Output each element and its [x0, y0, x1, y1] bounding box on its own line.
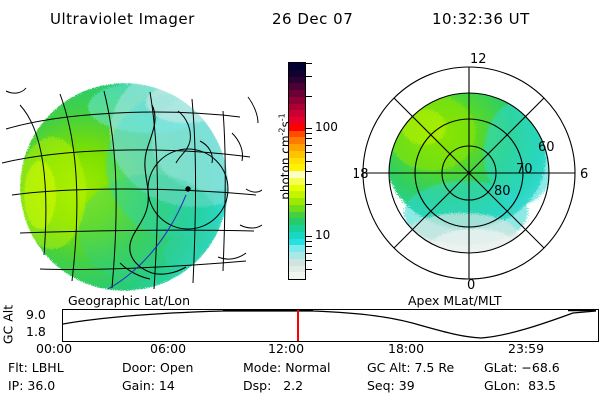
colorbar-segment: [289, 158, 305, 165]
colorbar-segment: [289, 83, 305, 90]
apex-polar-panel[interactable]: 12 6 0 18 60 70 80: [354, 45, 600, 295]
strip-x-tick-label: 00:00: [36, 341, 72, 356]
colorbar-gradient: [288, 62, 306, 280]
status-door: Door: Open: [122, 360, 193, 375]
mlt-label-18: 18: [354, 167, 369, 182]
colorbar-tick: [306, 152, 312, 153]
mlt-label-12: 12: [470, 52, 487, 67]
colorbar-segment: [289, 232, 305, 239]
colorbar-segment: [289, 137, 305, 144]
colorbar-segment: [289, 124, 305, 131]
colorbar-segment: [289, 239, 305, 246]
colorbar-tick: [306, 260, 312, 261]
colorbar-segment: [289, 63, 305, 70]
colorbar-segment: [289, 252, 305, 259]
status-dsp: Dsp: 2.2: [243, 378, 303, 393]
mlat-label-80: 80: [494, 184, 511, 199]
colorbar-segment: [289, 185, 305, 192]
header-bar: Ultraviolet Imager 26 Dec 07 10:32:36 UT: [0, 6, 600, 34]
mlt-label-6: 6: [580, 167, 588, 182]
status-seq: Seq: 39: [367, 378, 415, 393]
status-flt: Flt: LBHL: [8, 360, 64, 375]
geographic-plot-svg: [0, 45, 262, 295]
status-gain: Gain: 14: [122, 378, 175, 393]
colorbar-segment: [289, 259, 305, 266]
strip-plot-box[interactable]: [62, 309, 599, 342]
time-cursor[interactable]: [297, 310, 299, 341]
colorbar-tick: [306, 76, 312, 77]
colorbar-tick: [306, 171, 312, 172]
colorbar-segment: [289, 90, 305, 97]
colorbar-segment: [289, 266, 305, 273]
colorbar-segment: [289, 110, 305, 117]
mlt-label-0: 0: [467, 278, 475, 293]
status-row-2: IP: 36.0 Gain: 14 Dsp: 2.2 Seq: 39 GLon:…: [0, 378, 600, 396]
status-glon: GLon: 83.5: [484, 378, 556, 393]
status-glat: GLat: −68.6: [484, 360, 560, 375]
altitude-track-svg: [63, 310, 596, 339]
colorbar-segment: [289, 198, 305, 205]
strip-x-tick-label: 12:00: [268, 341, 304, 356]
colorbar-segment: [289, 151, 305, 158]
status-gc-alt: GC Alt: 7.5 Re: [367, 360, 454, 375]
colorbar-tick: [306, 204, 312, 205]
colorbar-segment: [289, 97, 305, 104]
colorbar-segment: [289, 178, 305, 185]
colorbar-panel: photon cm-2s-1 10010: [262, 45, 354, 295]
mlat-label-60: 60: [538, 140, 555, 155]
colorbar-tick-label: 100: [315, 121, 338, 133]
colorbar-segment: [289, 191, 305, 198]
strip-y-axis-label: GC Alt: [1, 299, 16, 351]
instrument-title: Ultraviolet Imager: [50, 10, 195, 28]
colorbar-segment: [289, 164, 305, 171]
status-panel: Flt: LBHL Door: Open Mode: Normal GC Alt…: [0, 360, 600, 400]
colorbar-segment: [289, 171, 305, 178]
strip-ytick-low: 1.8: [26, 324, 46, 339]
colorbar-segment: [289, 144, 305, 151]
strip-title-right: Apex MLat/MLT: [408, 293, 502, 308]
status-mode: Mode: Normal: [243, 360, 330, 375]
colorbar-tick: [306, 133, 312, 134]
colorbar-tick: [306, 246, 312, 247]
strip-ytick-high: 9.0: [26, 307, 46, 322]
colorbar-tick: [306, 161, 312, 162]
colorbar-segment: [289, 225, 305, 232]
observation-time: 10:32:36 UT: [432, 10, 530, 28]
strip-title-left: Geographic Lat/Lon: [68, 293, 190, 308]
colorbar-tick: [306, 236, 312, 237]
colorbar-tick: [306, 96, 312, 97]
colorbar-segment: [289, 117, 305, 124]
colorbar-tick: [306, 63, 312, 64]
colorbar-tick: [306, 253, 312, 254]
geographic-image-panel[interactable]: [0, 45, 262, 295]
colorbar-tick: [306, 184, 312, 185]
colorbar-segment: [289, 70, 305, 77]
colorbar-segment: [289, 218, 305, 225]
colorbar-tick: [306, 241, 312, 242]
strip-x-tick-label: 18:00: [388, 341, 424, 356]
status-row-1: Flt: LBHL Door: Open Mode: Normal GC Alt…: [0, 360, 600, 378]
colorbar-tick-label: 10: [315, 229, 330, 241]
colorbar-segment: [289, 212, 305, 219]
strip-x-tick-label: 23:59: [508, 341, 544, 356]
colorbar-segment: [289, 131, 305, 138]
status-ip: IP: 36.0: [8, 378, 55, 393]
altitude-curve: [63, 311, 596, 338]
orbit-timeline[interactable]: Geographic Lat/Lon Apex MLat/MLT GC Alt …: [0, 293, 600, 358]
colorbar-segment: [289, 77, 305, 84]
observation-date: 26 Dec 07: [272, 10, 353, 28]
colorbar-tick: [306, 145, 312, 146]
polar-grid: [363, 67, 575, 279]
polar-plot-svg: 12 6 0 18 60 70 80: [354, 45, 600, 295]
strip-x-tick-label: 06:00: [150, 341, 186, 356]
colorbar-segment: [289, 245, 305, 252]
colorbar-tick: [306, 269, 312, 270]
mlat-label-70: 70: [516, 162, 533, 177]
colorbar-segment: [289, 272, 305, 279]
colorbar-segment: [289, 104, 305, 111]
colorbar-segment: [289, 205, 305, 212]
colorbar-tick: [306, 138, 312, 139]
colorbar-tick: [306, 128, 312, 129]
